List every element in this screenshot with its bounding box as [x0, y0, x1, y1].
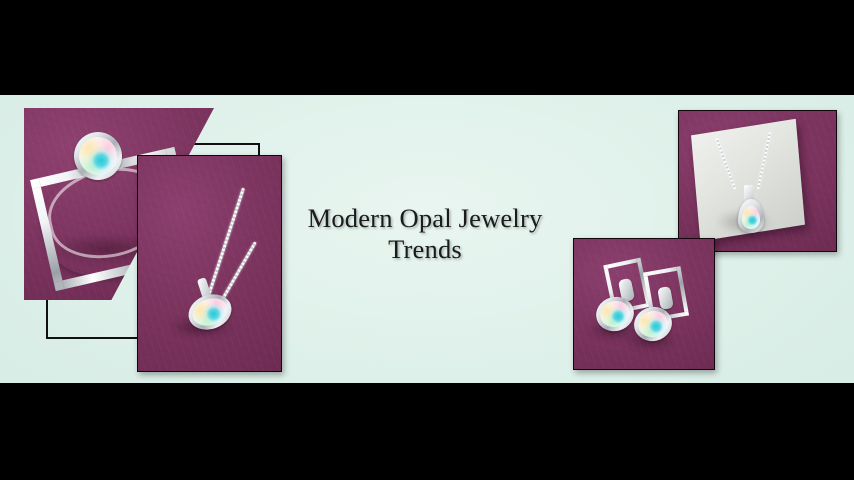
banner-content: Modern Opal Jewelry Trends — [0, 95, 854, 383]
opal-stone-icon — [79, 137, 117, 175]
purple-suede-backdrop — [138, 156, 281, 371]
letterbox-bar-bottom — [0, 383, 854, 480]
opal-stone-icon — [742, 206, 760, 229]
title-line-2: Trends — [296, 234, 554, 265]
opal-earrings-photo — [573, 238, 715, 370]
opal-necklace-card-photo — [678, 110, 837, 252]
page-title: Modern Opal Jewelry Trends — [296, 203, 554, 265]
letterbox-bar-top — [0, 0, 854, 95]
title-line-1: Modern Opal Jewelry — [296, 203, 554, 234]
video-frame: Modern Opal Jewelry Trends — [0, 0, 854, 480]
opal-pendant-photo — [137, 155, 282, 372]
